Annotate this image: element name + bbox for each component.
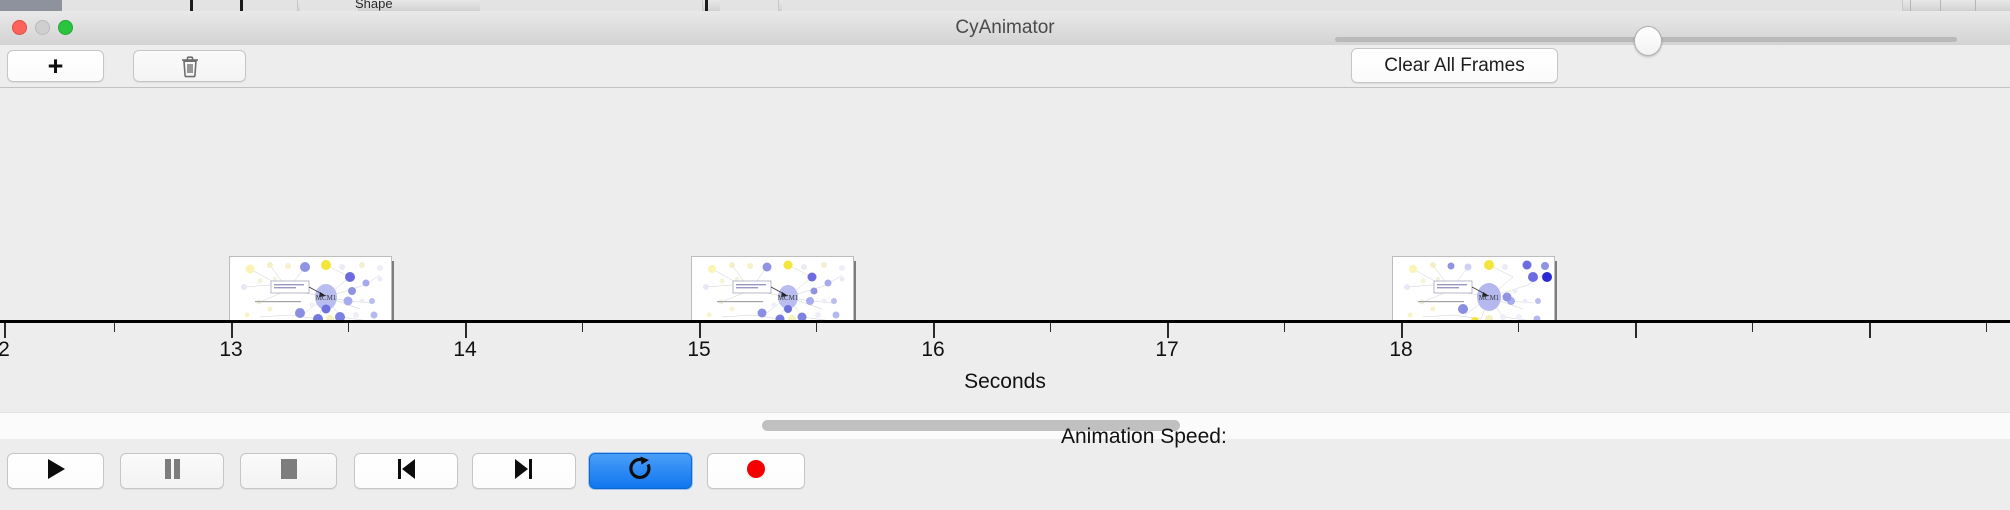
plus-icon: + xyxy=(48,53,64,80)
ruler-tick xyxy=(1752,323,1753,332)
playback-controls: Animation Speed: xyxy=(0,439,2010,510)
frame-thumbnail[interactable]: MCM1 xyxy=(691,256,854,320)
ruler-label: 17 xyxy=(1155,338,1178,362)
pause-icon xyxy=(162,457,182,486)
ruler-tick xyxy=(231,323,233,338)
network-thumbnail-graphic: MCM1 xyxy=(692,257,853,320)
axis-title: Seconds xyxy=(0,370,2010,394)
clear-all-frames-button[interactable]: Clear All Frames xyxy=(1351,48,1558,83)
svg-text:MCM1: MCM1 xyxy=(316,294,337,302)
ruler-label: 18 xyxy=(1389,338,1412,362)
skip-start-button[interactable] xyxy=(354,453,458,489)
stop-icon xyxy=(278,457,300,486)
animation-speed-slider-thumb[interactable] xyxy=(1634,26,1662,56)
clear-all-frames-label: Clear All Frames xyxy=(1384,55,1524,77)
skip-start-icon xyxy=(395,457,417,486)
ruler-tick xyxy=(1050,323,1051,332)
ruler-tick xyxy=(114,323,115,332)
ruler-label: 15 xyxy=(687,338,710,362)
record-button[interactable] xyxy=(707,453,805,489)
pause-button[interactable] xyxy=(120,453,224,489)
cyanimator-window: Shape CyAnimator + xyxy=(0,0,2010,510)
close-button[interactable] xyxy=(12,20,27,35)
add-frame-button[interactable]: + xyxy=(7,50,104,82)
zoom-button[interactable] xyxy=(58,20,73,35)
ruler-tick xyxy=(4,323,6,338)
minimize-button[interactable] xyxy=(35,20,50,35)
ruler-tick xyxy=(1284,323,1285,332)
ruler-label: 14 xyxy=(453,338,476,362)
ruler-tick xyxy=(1518,323,1519,332)
ruler-tick xyxy=(1167,323,1169,338)
ruler-label: 13 xyxy=(219,338,242,362)
ruler-tick xyxy=(699,323,701,338)
trash-icon xyxy=(180,55,200,78)
svg-text:MCM1: MCM1 xyxy=(778,294,799,302)
ruler-tick xyxy=(465,323,467,338)
svg-text:MCM1: MCM1 xyxy=(1479,294,1500,302)
loop-button[interactable] xyxy=(589,453,692,489)
ruler-tick xyxy=(1986,323,1987,332)
timeline-scrollbar[interactable] xyxy=(0,412,2010,440)
ruler-tick xyxy=(816,323,817,332)
toolbar: + Clear All Frames xyxy=(0,45,2010,88)
background-window-label: Shape xyxy=(355,0,393,11)
network-thumbnail-graphic: MCM1 xyxy=(1393,257,1554,320)
ruler-tick xyxy=(582,323,583,332)
ruler-label: 16 xyxy=(921,338,944,362)
loop-icon xyxy=(629,456,653,487)
ruler-tick xyxy=(933,323,935,338)
window-controls xyxy=(12,20,73,35)
stop-button[interactable] xyxy=(240,453,337,489)
animation-speed-label: Animation Speed: xyxy=(1061,425,1227,449)
delete-frame-button[interactable] xyxy=(133,50,246,82)
timeline-panel[interactable]: MCM1 xyxy=(0,88,2010,320)
frame-thumbnail[interactable]: MCM1 xyxy=(229,256,392,320)
ruler-label: 2 xyxy=(0,338,10,362)
play-button[interactable] xyxy=(7,453,104,489)
skip-end-button[interactable] xyxy=(472,453,576,489)
frame-thumbnail[interactable]: MCM1 xyxy=(1392,256,1555,320)
ruler-tick xyxy=(1401,323,1403,338)
network-thumbnail-graphic: MCM1 xyxy=(230,257,391,320)
ruler-tick xyxy=(1635,323,1637,338)
background-window-strip: Shape xyxy=(0,0,2010,11)
ruler-tick xyxy=(1869,323,1871,338)
timeline-ruler[interactable] xyxy=(0,320,2010,326)
play-icon xyxy=(45,457,67,486)
ruler-tick xyxy=(348,323,349,332)
skip-end-icon xyxy=(513,457,535,486)
record-icon xyxy=(745,458,767,485)
